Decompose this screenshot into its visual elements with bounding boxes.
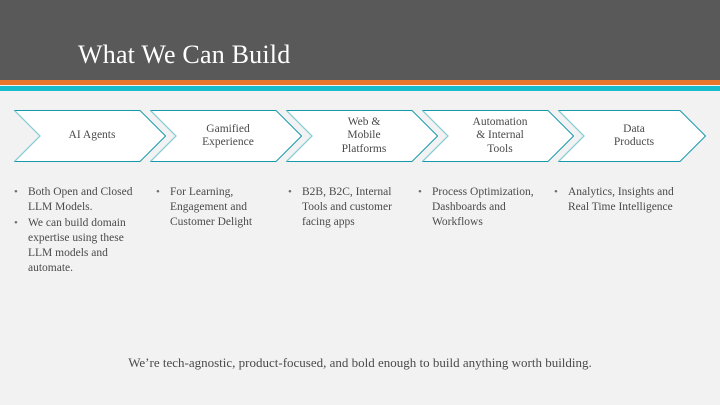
list-item: •For Learning, Engagement and Customer D… [156,185,274,230]
chevron-step-1[interactable]: AI Agents [14,110,166,162]
list-item: •Process Optimization, Dashboards and Wo… [418,185,538,230]
footer-tagline: We’re tech-agnostic, product-focused, an… [0,354,720,371]
list-item-text: Analytics, Insights and Real Time Intell… [568,185,682,215]
bullet-dot-icon: • [156,185,170,200]
list-item-text: Process Optimization, Dashboards and Wor… [432,185,538,230]
list-item-text: B2B, B2C, Internal Tools and customer fa… [302,185,406,230]
bullet-column-5: •Analytics, Insights and Real Time Intel… [554,185,682,216]
list-item: •B2B, B2C, Internal Tools and customer f… [288,185,406,230]
bullet-dot-icon: • [288,185,302,200]
chevron-step-label: Web & Mobile Platforms [324,116,401,157]
chevron-step-5[interactable]: Data Products [558,110,706,162]
chevron-step-label: Data Products [596,123,668,150]
slide-canvas: What We Can Build AI AgentsGamified Expe… [0,0,720,405]
bullet-columns: •Both Open and Closed LLM Models.•We can… [0,185,720,335]
bullet-dot-icon: • [14,185,28,200]
list-item-text: Both Open and Closed LLM Models. [28,185,136,215]
bullet-dot-icon: • [418,185,432,200]
chevron-step-label: Gamified Experience [184,123,268,150]
chevron-step-label: Automation & Internal Tools [455,116,542,157]
list-item: •We can build domain expertise using the… [14,216,136,276]
list-item: •Both Open and Closed LLM Models. [14,185,136,215]
page-title: What We Can Build [78,40,290,70]
chevron-step-4[interactable]: Automation & Internal Tools [422,110,574,162]
bullet-column-3: •B2B, B2C, Internal Tools and customer f… [288,185,406,231]
bullet-dot-icon: • [554,185,568,200]
chevron-process-row: AI AgentsGamified ExperienceWeb & Mobile… [0,110,720,162]
bullet-column-2: •For Learning, Engagement and Customer D… [156,185,274,231]
list-item: •Analytics, Insights and Real Time Intel… [554,185,682,215]
bullet-column-4: •Process Optimization, Dashboards and Wo… [418,185,538,231]
accent-bar-cyan [0,86,720,91]
list-item-text: We can build domain expertise using thes… [28,216,136,276]
list-item-text: For Learning, Engagement and Customer De… [170,185,274,230]
chevron-step-3[interactable]: Web & Mobile Platforms [286,110,438,162]
bullet-column-1: •Both Open and Closed LLM Models.•We can… [14,185,136,277]
chevron-step-label: AI Agents [51,129,130,143]
chevron-step-2[interactable]: Gamified Experience [150,110,302,162]
bullet-dot-icon: • [14,216,28,231]
